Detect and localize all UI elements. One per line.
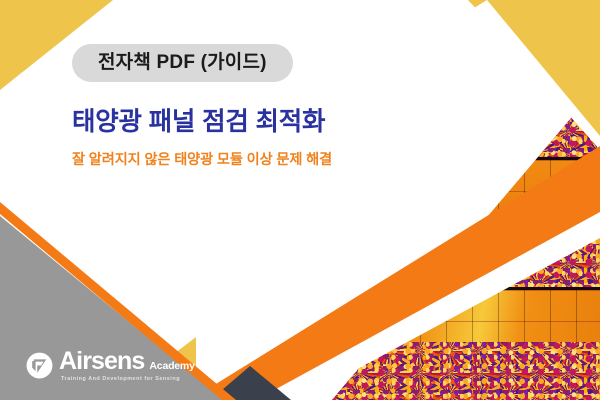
page-title: 태양광 패널 점검 최적화	[72, 107, 402, 138]
thermal-ground-band	[290, 232, 600, 290]
page-subtitle: 잘 알려지지 않은 태양광 모듈 이상 문제 해결	[72, 151, 402, 169]
brand-name: Airsens	[59, 349, 144, 374]
brand-suffix: Academy	[149, 361, 194, 372]
thermal-panel-row	[290, 160, 600, 232]
airsens-emblem-icon	[26, 352, 53, 379]
format-badge: 전자책 PDF (가이드)	[72, 44, 293, 82]
thermal-ground-band	[290, 342, 600, 400]
brand-logo: Airsens Academy Training And Development…	[26, 349, 195, 382]
cover-text-block: 전자책 PDF (가이드) 태양광 패널 점검 최적화 잘 알려지지 않은 태양…	[72, 44, 402, 169]
brand-tagline: Training And Development for Sensing	[61, 377, 195, 382]
ebook-cover: 전자책 PDF (가이드) 태양광 패널 점검 최적화 잘 알려지지 않은 태양…	[0, 0, 600, 400]
brand-name-row: Airsens Academy	[59, 349, 195, 374]
thermal-ground-band	[290, 0, 600, 38]
thermal-panel-row	[290, 290, 600, 342]
accent-triangle-dark	[215, 366, 291, 400]
brand-wordmark: Airsens Academy Training And Development…	[59, 349, 195, 382]
